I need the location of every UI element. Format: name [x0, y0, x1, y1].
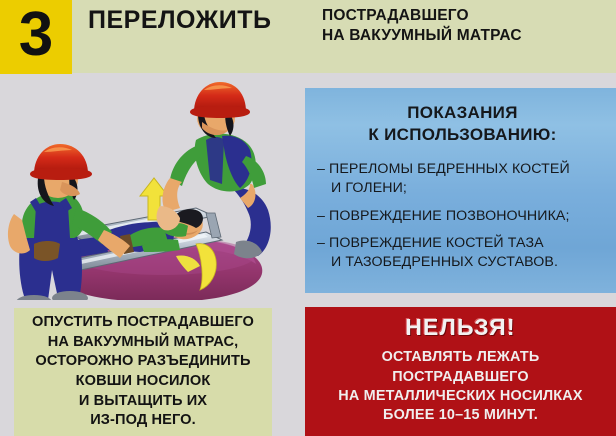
instruction-line-3: ОСТОРОЖНО РАЗЪЕДИНИТЬ: [32, 352, 254, 372]
rescue-illustration: [0, 80, 292, 300]
indications-title-line2: К ИСПОЛЬЗОВАНИЮ:: [317, 124, 608, 146]
indications-item-2: – ПОВРЕЖДЕНИЕ ПОЗВОНОЧНИКА;: [317, 207, 608, 226]
header-object-line2: НА ВАКУУМНЫЙ МАТРАС: [322, 26, 522, 46]
warning-panel: НЕЛЬЗЯ! ОСТАВЛЯТЬ ЛЕЖАТЬ ПОСТРАДАВШЕГО Н…: [305, 307, 616, 436]
indications-item-1-line1: – ПЕРЕЛОМЫ БЕДРЕННЫХ КОСТЕЙ: [317, 161, 570, 177]
indications-item-1-line2: И ГОЛЕНИ;: [317, 179, 608, 198]
poster-root: 3 ПЕРЕЛОЖИТЬ ПОСТРАДАВШЕГО НА ВАКУУМНЫЙ …: [0, 0, 616, 436]
indications-title-line1: ПОКАЗАНИЯ: [317, 102, 608, 124]
indications-item-2-line1: – ПОВРЕЖДЕНИЕ ПОЗВОНОЧНИКА;: [317, 208, 570, 224]
step-number-text: 3: [19, 4, 53, 66]
header-action-title: ПЕРЕЛОЖИТЬ: [88, 6, 271, 35]
instruction-text: ОПУСТИТЬ ПОСТРАДАВШЕГО НА ВАКУУМНЫЙ МАТР…: [32, 313, 254, 431]
indications-list: – ПЕРЕЛОМЫ БЕДРЕННЫХ КОСТЕЙ И ГОЛЕНИ; – …: [317, 160, 608, 272]
instruction-line-1: ОПУСТИТЬ ПОСТРАДАВШЕГО: [32, 313, 254, 333]
warning-title: НЕЛЬЗЯ!: [305, 315, 616, 340]
warning-line-4: БОЛЕЕ 10–15 МИНУТ.: [305, 406, 616, 425]
indications-item-3-line1: – ПОВРЕЖДЕНИЕ КОСТЕЙ ТАЗА: [317, 235, 544, 251]
warning-body: ОСТАВЛЯТЬ ЛЕЖАТЬ ПОСТРАДАВШЕГО НА МЕТАЛЛ…: [305, 348, 616, 425]
warning-line-2: ПОСТРАДАВШЕГО: [305, 368, 616, 387]
step-number-badge: 3: [0, 0, 72, 74]
indications-title: ПОКАЗАНИЯ К ИСПОЛЬЗОВАНИЮ:: [317, 102, 608, 146]
instruction-line-5: И ВЫТАЩИТЬ ИХ: [32, 392, 254, 412]
header-object-text: ПОСТРАДАВШЕГО НА ВАКУУМНЫЙ МАТРАС: [322, 6, 522, 46]
indications-item-1: – ПЕРЕЛОМЫ БЕДРЕННЫХ КОСТЕЙ И ГОЛЕНИ;: [317, 160, 608, 197]
indications-item-3-line2: И ТАЗОБЕДРЕННЫХ СУСТАВОВ.: [317, 253, 608, 272]
instruction-panel: ОПУСТИТЬ ПОСТРАДАВШЕГО НА ВАКУУМНЫЙ МАТР…: [14, 308, 272, 436]
indications-item-3: – ПОВРЕЖДЕНИЕ КОСТЕЙ ТАЗА И ТАЗОБЕДРЕННЫ…: [317, 234, 608, 271]
warning-line-1: ОСТАВЛЯТЬ ЛЕЖАТЬ: [305, 348, 616, 367]
indications-panel: ПОКАЗАНИЯ К ИСПОЛЬЗОВАНИЮ: – ПЕРЕЛОМЫ БЕ…: [305, 88, 616, 293]
header-object-line1: ПОСТРАДАВШЕГО: [322, 6, 522, 26]
warning-line-3: НА МЕТАЛЛИЧЕСКИХ НОСИЛКАХ: [305, 387, 616, 406]
illustration-panel: [0, 80, 292, 300]
instruction-line-6: ИЗ-ПОД НЕГО.: [32, 411, 254, 431]
instruction-line-2: НА ВАКУУМНЫЙ МАТРАС,: [32, 333, 254, 353]
instruction-line-4: КОВШИ НОСИЛОК: [32, 372, 254, 392]
